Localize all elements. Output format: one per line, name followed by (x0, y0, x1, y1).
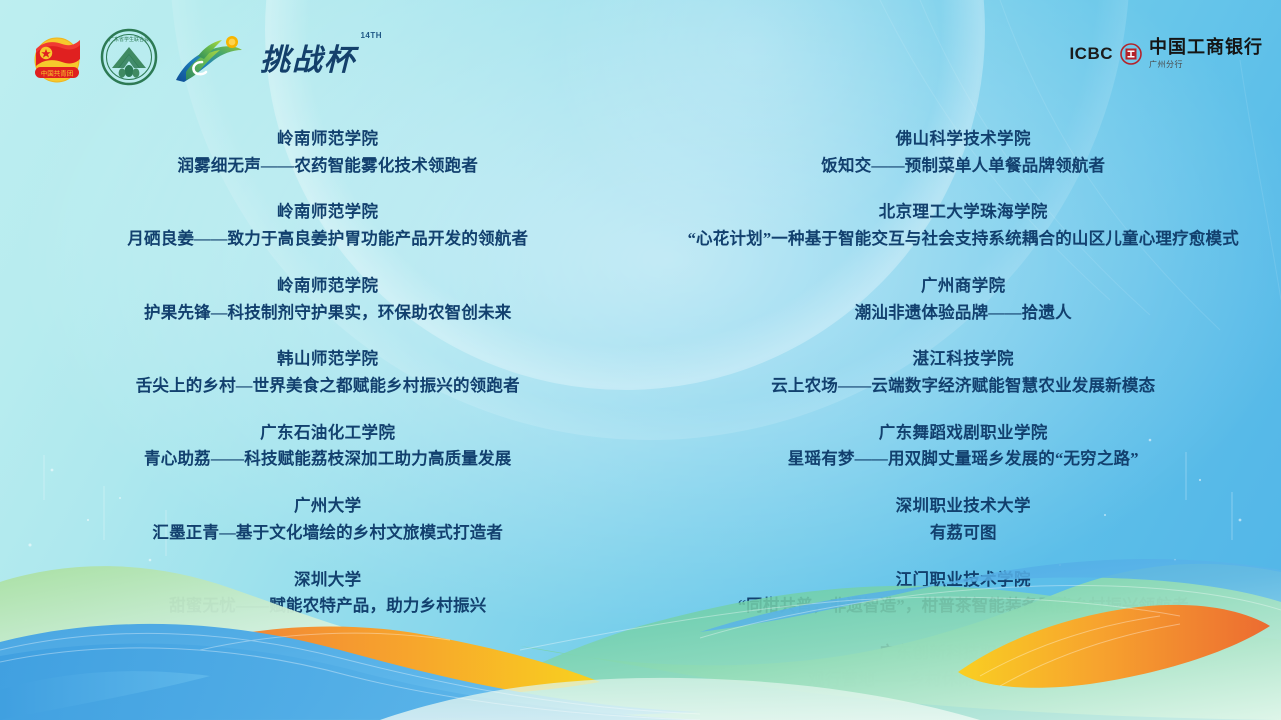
project-school: 深圳职业技术大学 (672, 493, 1256, 520)
project-entry: 广州商学院 潮汕非遗体验品牌——拾遗人 (646, 273, 1281, 326)
project-school: 岭南师范学院 (66, 126, 590, 153)
project-school: 湛江科技学院 (672, 346, 1256, 373)
project-title: 护果先锋—科技制剂守护果实，环保助农智创未来 (66, 300, 590, 327)
project-title: “心花计划”一种基于智能交互与社会支持系统耦合的山区儿童心理疗愈模式 (672, 226, 1256, 253)
icbc-abbr-text: ICBC (1069, 44, 1113, 64)
project-title: 饭知交——预制菜单人单餐品牌领航者 (672, 153, 1256, 180)
header-logo-bar: 中国共青团 广东省学生联合会 (0, 0, 1281, 110)
challenge-cup-logo-icon (170, 28, 248, 86)
organizer-logos: 中国共青团 广东省学生联合会 (26, 28, 356, 86)
project-entry: 韩山师范学院 舌尖上的乡村—世界美食之都赋能乡村振兴的领跑者 (10, 346, 646, 399)
project-school: 北京理工大学珠海学院 (672, 199, 1256, 226)
project-school: 广州商学院 (672, 273, 1256, 300)
project-school: 广东舞蹈戏剧职业学院 (672, 420, 1256, 447)
project-school: 广州大学 (66, 493, 590, 520)
project-title: 青心助荔——科技赋能荔枝深加工助力高质量发展 (66, 446, 590, 473)
project-school: 岭南师范学院 (66, 199, 590, 226)
project-title: 舌尖上的乡村—世界美食之都赋能乡村振兴的领跑者 (66, 373, 590, 400)
icbc-mark-icon (1120, 43, 1142, 65)
project-school: 岭南师范学院 (66, 273, 590, 300)
svg-text:广东省学生联合会: 广东省学生联合会 (109, 36, 149, 43)
project-title: 云上农场——云端数字经济赋能智慧农业发展新模态 (672, 373, 1256, 400)
project-entry: 岭南师范学院 月硒良姜——致力于高良姜护胃功能产品开发的领航者 (10, 199, 646, 252)
project-entry: 岭南师范学院 润雾细无声——农药智能雾化技术领跑者 (10, 126, 646, 179)
icbc-name-text: 中国工商银行 (1149, 38, 1263, 57)
project-entry: 岭南师范学院 护果先锋—科技制剂守护果实，环保助农智创未来 (10, 273, 646, 326)
project-title: 润雾细无声——农药智能雾化技术领跑者 (66, 153, 590, 180)
project-title: 星瑶有梦——用双脚丈量瑶乡发展的“无穷之路” (672, 446, 1256, 473)
challenge-cup-wordmark-text: 挑战杯 (260, 44, 356, 77)
project-entry: 佛山科学技术学院 饭知交——预制菜单人单餐品牌领航者 (646, 126, 1281, 179)
communist-youth-league-emblem-icon: 中国共青团 (26, 29, 88, 85)
project-entry: 湛江科技学院 云上农场——云端数字经济赋能智慧农业发展新模态 (646, 346, 1281, 399)
project-entry: 广东舞蹈戏剧职业学院 星瑶有梦——用双脚丈量瑶乡发展的“无穷之路” (646, 420, 1281, 473)
icbc-branch-text: 广州分行 (1149, 59, 1263, 70)
project-entry: 广东石油化工学院 青心助荔——科技赋能荔枝深加工助力高质量发展 (10, 420, 646, 473)
svg-text:中国共青团: 中国共青团 (41, 69, 74, 78)
project-title: 月硒良姜——致力于高良姜护胃功能产品开发的领航者 (66, 226, 590, 253)
slide-canvas: 中国共青团 广东省学生联合会 (0, 0, 1281, 720)
project-school: 广东石油化工学院 (66, 420, 590, 447)
challenge-cup-wordmark: 挑战杯 14TH (260, 35, 356, 79)
project-title: 潮汕非遗体验品牌——拾遗人 (672, 300, 1256, 327)
decorative-wave-footer (0, 530, 1281, 720)
project-school: 韩山师范学院 (66, 346, 590, 373)
project-school: 佛山科学技术学院 (672, 126, 1256, 153)
university-seal-emblem-icon: 广东省学生联合会 (100, 28, 158, 86)
sponsor-logo-icbc: ICBC 中国工商银行 广州分行 (1069, 38, 1263, 70)
project-entry: 北京理工大学珠海学院 “心花计划”一种基于智能交互与社会支持系统耦合的山区儿童心… (646, 199, 1281, 252)
challenge-cup-edition-superscript: 14TH (360, 31, 382, 40)
